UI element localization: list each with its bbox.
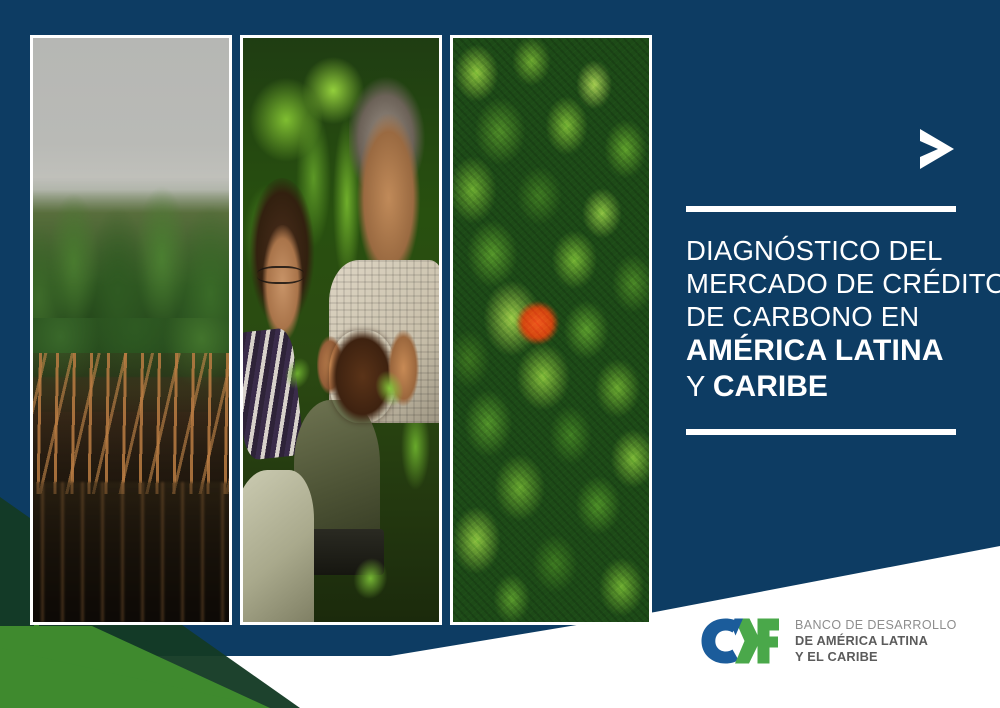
title-rule-bottom [686,429,956,435]
title-line-5-bold: CARIBE [713,370,828,403]
logo-line-2: DE AMÉRICA LATINA [795,633,957,649]
report-cover: DIAGNÓSTICO DEL MERCADO DE CRÉDITO DE CA… [0,0,1000,708]
panel-people [240,35,442,625]
title-line-1: DIAGNÓSTICO DEL [686,234,958,267]
title-line-5-prefix: Y [686,371,713,403]
canopy-texture [453,38,649,622]
mangrove-photo [33,38,229,622]
people-photo [243,38,439,622]
caf-logo: BANCO DE DESARROLLO DE AMÉRICA LATINA Y … [699,617,957,665]
chevron-right-icon [914,125,960,173]
panel-mangrove [30,35,232,625]
title-rule-top [686,206,956,212]
cover-title-block: DIAGNÓSTICO DEL MERCADO DE CRÉDITO DE CA… [686,206,958,405]
image-strip [30,35,652,625]
mangrove-water-reflection [33,482,229,622]
aerial-canopy-photo [453,38,649,622]
title-line-3: DE CARBONO EN [686,300,958,333]
caf-logo-mark [699,617,783,665]
caf-logo-text: BANCO DE DESARROLLO DE AMÉRICA LATINA Y … [795,618,957,664]
eyeglasses [257,266,304,285]
logo-line-1: BANCO DE DESARROLLO [795,618,957,633]
title-line-5: Y CARIBE [686,369,958,405]
panel-canopy [450,35,652,625]
title-line-4: AMÉRICA LATINA [686,333,958,369]
logo-line-3: Y EL CARIBE [795,649,957,665]
title-line-2: MERCADO DE CRÉDITO [686,267,958,300]
woman-trousers [243,470,314,622]
mangrove-prop-roots [33,353,229,493]
